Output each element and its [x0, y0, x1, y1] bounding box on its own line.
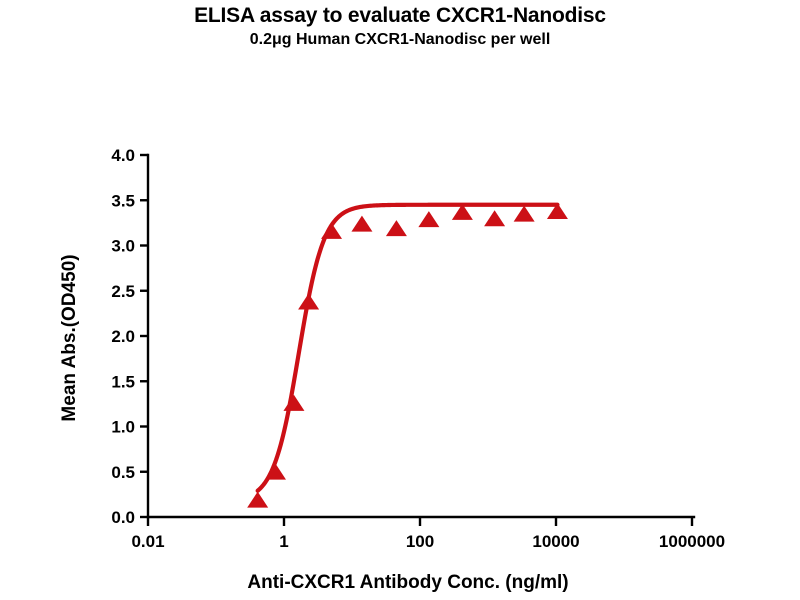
y-tick-label: 0.0 — [111, 508, 135, 527]
y-tick-label: 2.5 — [111, 282, 135, 301]
plot-area: 0.00.51.01.52.02.53.03.54.0 0.0111001000… — [0, 0, 800, 600]
data-point-marker — [247, 492, 268, 508]
data-point-marker — [321, 223, 342, 239]
data-point-marker — [265, 464, 286, 480]
x-tick-label: 1000000 — [659, 532, 725, 551]
y-tick-label: 4.0 — [111, 146, 135, 165]
y-tick-label: 3.0 — [111, 237, 135, 256]
data-markers — [247, 203, 568, 508]
x-tick-label: 100 — [406, 532, 434, 551]
data-point-marker — [351, 216, 372, 232]
elisa-scatter-plot: 0.00.51.01.52.02.53.03.54.0 0.0111001000… — [0, 0, 800, 600]
y-tick-label: 2.0 — [111, 327, 135, 346]
x-axis-title: Anti-CXCR1 Antibody Conc. (ng/ml) — [247, 572, 568, 593]
axes-group — [148, 155, 694, 517]
chart-page: ELISA assay to evaluate CXCR1-Nanodisc 0… — [0, 0, 800, 600]
y-tick-label: 3.5 — [111, 191, 135, 210]
y-tick-label: 1.0 — [111, 418, 135, 437]
data-point-marker — [514, 206, 535, 222]
x-axis-ticks: 0.011100100001000000 — [131, 517, 725, 551]
data-point-marker — [418, 211, 439, 227]
data-point-marker — [283, 395, 304, 411]
data-series-group — [247, 203, 568, 508]
x-tick-label: 1 — [279, 532, 288, 551]
y-axis-ticks: 0.00.51.01.52.02.53.03.54.0 — [111, 146, 148, 527]
y-tick-label: 0.5 — [111, 463, 135, 482]
x-tick-label: 10000 — [532, 532, 579, 551]
data-point-marker — [298, 293, 319, 309]
x-tick-label: 0.01 — [131, 532, 164, 551]
fit-curve — [258, 205, 558, 491]
y-tick-label: 1.5 — [111, 372, 135, 391]
y-axis-title: Mean Abs.(OD450) — [59, 254, 80, 421]
data-point-marker — [484, 210, 505, 226]
data-point-marker — [386, 220, 407, 236]
